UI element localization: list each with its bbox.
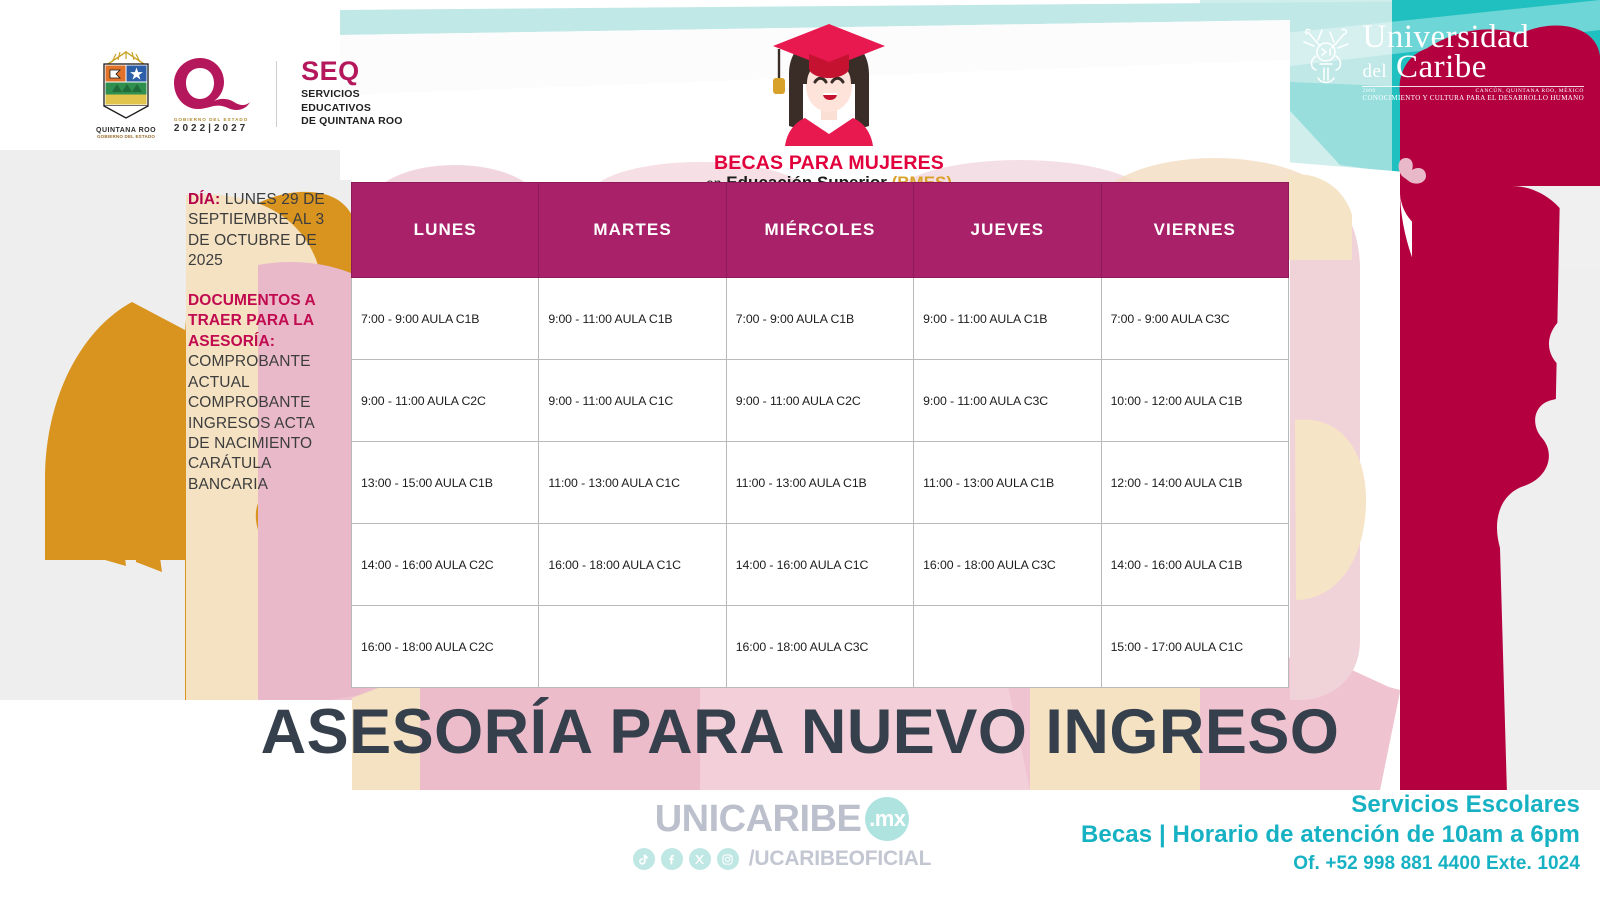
- schedule-cell: 16:00 - 18:00 AULA C3C: [914, 524, 1101, 606]
- seq-line-3: DE QUINTANA ROO: [301, 115, 403, 128]
- schedule-header-row: LUNES MARTES MIÉRCOLES JUEVES VIERNES: [352, 183, 1289, 278]
- graduate-woman-icon: [737, 22, 921, 152]
- x-twitter-icon[interactable]: [689, 848, 711, 870]
- universidad-caribe: Caribe: [1396, 49, 1487, 85]
- table-row: 13:00 - 15:00 AULA C1B 11:00 - 13:00 AUL…: [352, 442, 1289, 524]
- schedule-cell: 16:00 - 18:00 AULA C2C: [352, 606, 539, 688]
- seq-acronym: SEQ: [301, 58, 403, 85]
- bmes-logo: BECAS PARA MUJERES en Educación Superior…: [704, 22, 954, 193]
- facebook-icon[interactable]: [661, 848, 683, 870]
- schedule-cell: 14:00 - 16:00 AULA C2C: [352, 524, 539, 606]
- schedule-cell: 16:00 - 18:00 AULA C1C: [539, 524, 726, 606]
- schedule-cell: 7:00 - 9:00 AULA C1B: [726, 278, 913, 360]
- schedule-cell: [539, 606, 726, 688]
- universidad-location: CANCÚN, QUINTANA ROO, MÉXICO: [1476, 89, 1584, 94]
- schedule-cell: 16:00 - 18:00 AULA C3C: [726, 606, 913, 688]
- schedule-table: LUNES MARTES MIÉRCOLES JUEVES VIERNES 7:…: [351, 182, 1289, 688]
- info-day-label: DÍA:: [188, 191, 220, 208]
- universidad-rule: [1362, 86, 1584, 87]
- schedule-cell: 9:00 - 11:00 AULA C1C: [539, 360, 726, 442]
- table-row: 9:00 - 11:00 AULA C2C 9:00 - 11:00 AULA …: [352, 360, 1289, 442]
- social-handle[interactable]: /UCARIBEOFICIAL: [749, 847, 932, 871]
- instagram-icon[interactable]: [717, 848, 739, 870]
- seq-logo-group: QUINTANA ROO GOBIERNO DEL ESTADO GOBIERN…: [96, 48, 403, 139]
- column-header-miercoles: MIÉRCOLES: [726, 183, 913, 278]
- poster-canvas: QUINTANA ROO GOBIERNO DEL ESTADO GOBIERN…: [0, 0, 1600, 900]
- table-row: 14:00 - 16:00 AULA C2C 16:00 - 18:00 AUL…: [352, 524, 1289, 606]
- schedule-cell: 9:00 - 11:00 AULA C2C: [352, 360, 539, 442]
- gobierno-years: 2022|2027: [170, 123, 252, 134]
- universidad-line-2: del Caribe: [1362, 52, 1584, 82]
- quintana-roo-shield-icon: [96, 48, 156, 120]
- info-day: DÍA: LUNES 29 DE SEPTIEMBRE AL 3 DE OCTU…: [188, 190, 340, 272]
- seq-line-2: EDUCATIVOS: [301, 102, 403, 115]
- table-row: 16:00 - 18:00 AULA C2C 16:00 - 18:00 AUL…: [352, 606, 1289, 688]
- contact-phone: Of. +52 998 881 4400 Exte. 1024: [1081, 852, 1580, 877]
- schedule-cell: 9:00 - 11:00 AULA C1B: [539, 278, 726, 360]
- schedule-table-wrapper: LUNES MARTES MIÉRCOLES JUEVES VIERNES 7:…: [351, 182, 1289, 688]
- social-links: /UCARIBEOFICIAL: [632, 847, 932, 871]
- unicaribe-brand-block: UNICARIBE .mx /UCARIBEOFICIAL: [632, 797, 932, 871]
- contact-block: Servicios Escolares Becas | Horario de a…: [1081, 790, 1580, 877]
- schedule-cell: 7:00 - 9:00 AULA C1B: [352, 278, 539, 360]
- universidad-wordmark: Universidad del Caribe 2000 CANCÚN, QUIN…: [1362, 22, 1584, 101]
- contact-hours: Becas | Horario de atención de 10am a 6p…: [1081, 820, 1580, 850]
- schedule-cell: 9:00 - 11:00 AULA C3C: [914, 360, 1101, 442]
- contact-department: Servicios Escolares: [1081, 790, 1580, 820]
- universidad-line-1: Universidad: [1362, 22, 1584, 52]
- universidad-tagline: CONOCIMIENTO Y CULTURA PARA EL DESARROLL…: [1362, 95, 1584, 101]
- gobierno-label: GOBIERNO DEL ESTADO: [170, 117, 252, 122]
- schedule-cell: 11:00 - 13:00 AULA C1B: [914, 442, 1101, 524]
- quintana-roo-caption: QUINTANA ROO: [96, 127, 156, 134]
- schedule-cell: 11:00 - 13:00 AULA C1B: [726, 442, 913, 524]
- quintana-roo-subcaption: GOBIERNO DEL ESTADO: [96, 134, 156, 139]
- mayan-glyph-icon: [1298, 22, 1354, 88]
- info-docs-list: COMPROBANTE ACTUAL COMPROBANTE INGRESOS …: [188, 352, 340, 495]
- schedule-cell: 12:00 - 14:00 AULA C1B: [1101, 442, 1288, 524]
- universidad-year: 2000: [1362, 89, 1375, 94]
- unicaribe-mx-badge: .mx: [865, 797, 909, 841]
- schedule-cell: 9:00 - 11:00 AULA C1B: [914, 278, 1101, 360]
- schedule-cell: 14:00 - 16:00 AULA C1C: [726, 524, 913, 606]
- schedule-cell: [914, 606, 1101, 688]
- schedule-cell: 11:00 - 13:00 AULA C1C: [539, 442, 726, 524]
- tiktok-icon[interactable]: [633, 848, 655, 870]
- universidad-del-caribe-logo: Universidad del Caribe 2000 CANCÚN, QUIN…: [1298, 22, 1584, 101]
- info-docs-heading: DOCUMENTOS A TRAER PARA LA ASESORÍA:: [188, 291, 340, 352]
- schedule-cell: 9:00 - 11:00 AULA C2C: [726, 360, 913, 442]
- column-header-viernes: VIERNES: [1101, 183, 1288, 278]
- column-header-martes: MARTES: [539, 183, 726, 278]
- table-row: 7:00 - 9:00 AULA C1B 9:00 - 11:00 AULA C…: [352, 278, 1289, 360]
- schedule-cell: 15:00 - 17:00 AULA C1C: [1101, 606, 1288, 688]
- page-title: ASESORÍA PARA NUEVO INGRESO: [0, 696, 1600, 768]
- gobierno-q-logo: GOBIERNO DEL ESTADO 2022|2027: [170, 54, 252, 134]
- q-mark-icon: [170, 54, 252, 112]
- column-header-jueves: JUEVES: [914, 183, 1101, 278]
- schedule-cell: 14:00 - 16:00 AULA C1B: [1101, 524, 1288, 606]
- schedule-cell: 10:00 - 12:00 AULA C1B: [1101, 360, 1288, 442]
- seq-line-1: SERVICIOS: [301, 88, 403, 101]
- quintana-roo-shield: QUINTANA ROO GOBIERNO DEL ESTADO: [96, 48, 156, 139]
- info-sidebar: DÍA: LUNES 29 DE SEPTIEMBRE AL 3 DE OCTU…: [188, 190, 340, 495]
- unicaribe-wordmark: UNICARIBE .mx: [632, 797, 932, 841]
- seq-text-block: SEQ SERVICIOS EDUCATIVOS DE QUINTANA ROO: [301, 58, 403, 128]
- logo-divider: [276, 61, 277, 127]
- schedule-cell: 7:00 - 9:00 AULA C3C: [1101, 278, 1288, 360]
- universidad-del: del: [1362, 61, 1387, 82]
- bmes-title: BECAS PARA MUJERES: [704, 153, 954, 174]
- schedule-cell: 13:00 - 15:00 AULA C1B: [352, 442, 539, 524]
- unicaribe-text: UNICARIBE: [655, 800, 862, 838]
- column-header-lunes: LUNES: [352, 183, 539, 278]
